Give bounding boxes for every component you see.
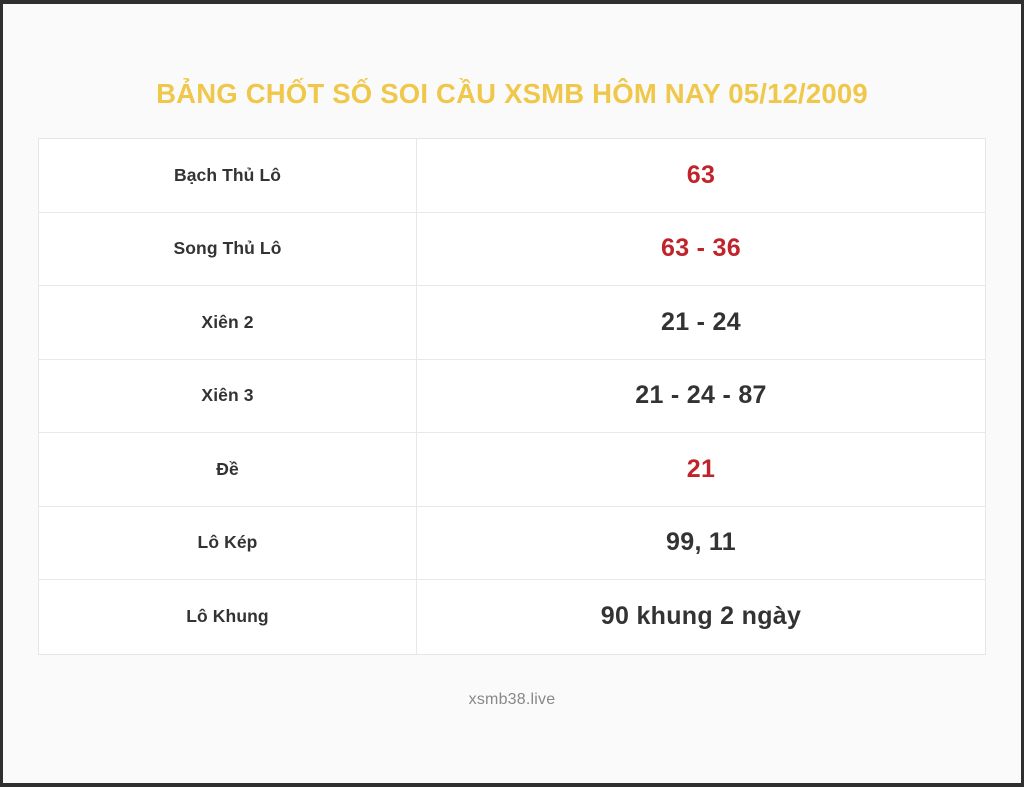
table-row: Lô Kép99, 11 xyxy=(39,507,985,581)
table-row: Lô Khung90 khung 2 ngày xyxy=(39,580,985,654)
table-row: Xiên 321 - 24 - 87 xyxy=(39,360,985,434)
row-value: 90 khung 2 ngày xyxy=(417,580,985,654)
prediction-table: Bạch Thủ Lô63Song Thủ Lô63 - 36Xiên 221 … xyxy=(38,138,986,655)
row-value: 21 xyxy=(417,433,985,506)
page-title: BẢNG CHỐT SỐ SOI CẦU XSMB HÔM NAY 05/12/… xyxy=(3,78,1021,110)
row-value: 21 - 24 - 87 xyxy=(417,360,985,433)
table-row: Xiên 221 - 24 xyxy=(39,286,985,360)
table-row: Đề21 xyxy=(39,433,985,507)
row-label: Lô Kép xyxy=(39,507,417,580)
row-label: Song Thủ Lô xyxy=(39,213,417,286)
prediction-board: BẢNG CHỐT SỐ SOI CẦU XSMB HÔM NAY 05/12/… xyxy=(0,0,1024,787)
row-label: Lô Khung xyxy=(39,580,417,654)
row-label: Đề xyxy=(39,433,417,506)
row-label: Xiên 3 xyxy=(39,360,417,433)
table-row: Bạch Thủ Lô63 xyxy=(39,139,985,213)
row-label: Bạch Thủ Lô xyxy=(39,139,417,212)
row-label: Xiên 2 xyxy=(39,286,417,359)
table-row: Song Thủ Lô63 - 36 xyxy=(39,213,985,287)
title-banner: BẢNG CHỐT SỐ SOI CẦU XSMB HÔM NAY 05/12/… xyxy=(3,4,1021,116)
site-watermark: xsmb38.live xyxy=(469,691,556,708)
row-value: 99, 11 xyxy=(417,507,985,580)
footer: xsmb38.live xyxy=(3,691,1021,709)
row-value: 63 - 36 xyxy=(417,213,985,286)
row-value: 63 xyxy=(417,139,985,212)
row-value: 21 - 24 xyxy=(417,286,985,359)
